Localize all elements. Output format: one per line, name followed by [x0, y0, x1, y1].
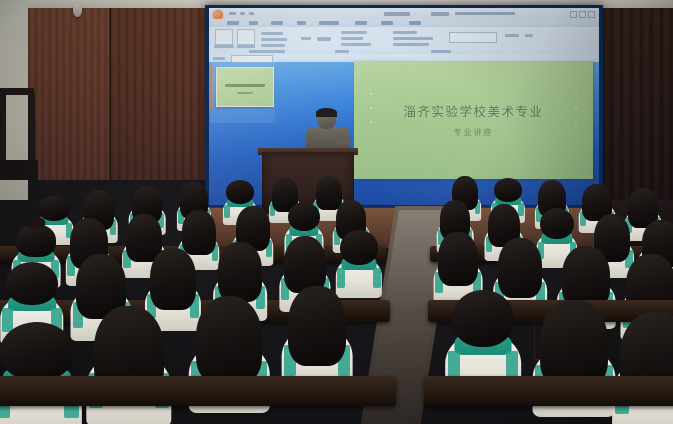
audience-member-head	[6, 262, 58, 305]
audience-member-head	[226, 180, 254, 204]
window-maximize-button[interactable]	[579, 11, 586, 18]
ribbon-tab-strip[interactable]	[209, 19, 599, 27]
audience-member	[94, 306, 164, 424]
slide-thumbnail-pane[interactable]	[210, 63, 275, 123]
audience-member-head	[540, 300, 608, 388]
av-equipment-rack	[0, 88, 44, 180]
wood-wall-panel-mid	[110, 8, 210, 180]
ceiling-spotlight-icon	[73, 4, 82, 17]
audience-member-head	[288, 286, 346, 366]
presentation-slide[interactable]: 淄齐实验学校美术专业 专业讲座	[354, 61, 593, 179]
auditorium-bench	[424, 376, 673, 406]
uniform-shoulder-stripe	[337, 268, 345, 288]
audience-member	[620, 312, 673, 424]
thumbnail-subtitle-line	[237, 92, 253, 94]
ribbon-toolbar[interactable]	[209, 27, 599, 56]
auditorium-photo: 淄齐实验学校美术专业 专业讲座	[0, 0, 673, 424]
audience-member-head	[288, 202, 320, 231]
thumbnail-title-line	[225, 84, 265, 87]
audience-member-head	[540, 208, 574, 239]
thumbnail-pane-accent	[209, 65, 213, 109]
audience-member-head	[218, 242, 262, 302]
audience-member-head	[438, 232, 478, 286]
audience-member	[0, 322, 74, 424]
slide-subtitle: 专业讲座	[354, 127, 593, 138]
slide-title: 淄齐实验学校美术专业	[354, 101, 593, 120]
audience-member-head	[284, 236, 326, 293]
audience-member-head	[150, 248, 196, 310]
audience-member-head	[16, 224, 56, 257]
panel-seam	[109, 8, 111, 180]
slide-thumbnail-1[interactable]	[216, 67, 274, 107]
window-minimize-button[interactable]	[570, 11, 577, 18]
auditorium-bench	[0, 376, 396, 406]
uniform-shoulder-stripe	[373, 268, 381, 288]
audience-member-head	[498, 238, 542, 298]
audience-member-head	[196, 296, 262, 384]
audience-member-head	[494, 178, 522, 202]
audience-member-head	[0, 322, 74, 381]
audience-member-head	[452, 290, 514, 347]
uniform-shoulder-stripe	[224, 205, 230, 218]
window-close-button[interactable]	[588, 11, 595, 18]
audience-member-head	[340, 230, 378, 265]
